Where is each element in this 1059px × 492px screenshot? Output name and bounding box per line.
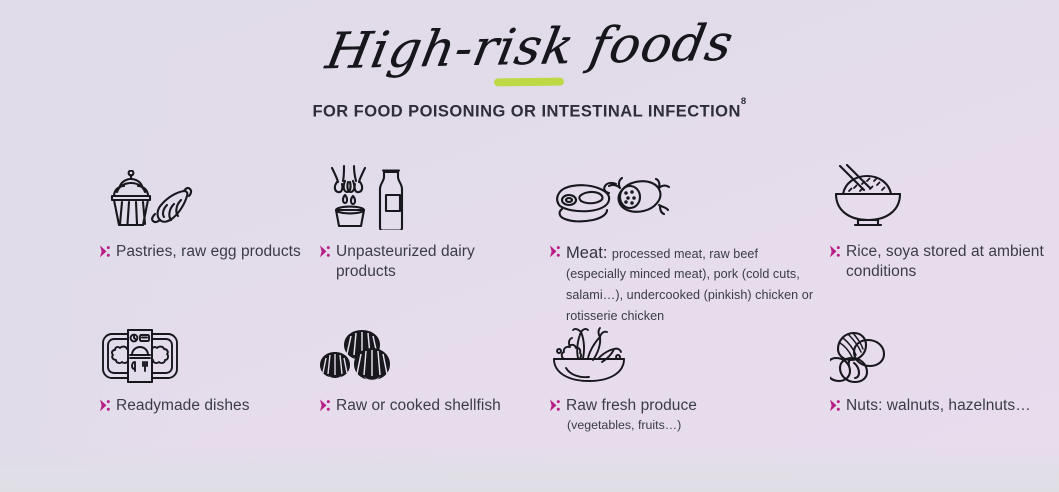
entry: Raw fresh produce <box>550 396 818 417</box>
arrow-bullet-icon <box>320 245 330 262</box>
entry-group: Raw fresh produce (vegetables, fruits…) <box>550 396 818 434</box>
item-label: Meat: <box>566 244 608 262</box>
subtitle-footnote-marker: 8 <box>741 96 747 107</box>
entry: Raw or cooked shellfish <box>320 396 538 417</box>
page-title: High-risk foods <box>312 18 747 77</box>
item-label: Raw fresh produce <box>566 396 697 417</box>
vegetable-bowl-icon <box>550 318 818 384</box>
cow-udder-milk-bottle-icon <box>320 156 538 230</box>
food-item-produce: Raw fresh produce (vegetables, fruits…) <box>550 318 818 434</box>
scallop-shells-icon <box>320 318 538 384</box>
food-item-meat: Meat: processed meat, raw beef (especial… <box>550 156 818 306</box>
cupcake-croissant-icon <box>100 156 308 230</box>
entry: Nuts: walnuts, hazelnuts… <box>830 396 1059 417</box>
arrow-bullet-icon <box>550 245 560 262</box>
entry: Unpasteurized dairy products <box>320 242 538 284</box>
header: High-risk foods FOR FOOD POISONING OR IN… <box>0 0 1059 122</box>
item-label: Raw or cooked shellfish <box>336 396 501 417</box>
item-label: Unpasteurized dairy products <box>336 242 538 284</box>
nuts-icon <box>830 318 1059 384</box>
title-underline-accent <box>494 78 564 87</box>
arrow-bullet-icon <box>100 399 110 416</box>
food-item-nuts: Nuts: walnuts, hazelnuts… <box>830 318 1059 434</box>
entry: Rice, soya stored at ambient conditions <box>830 242 1059 284</box>
food-item-shellfish: Raw or cooked shellfish <box>320 318 538 434</box>
steak-sausage-icon <box>550 156 818 230</box>
background-gradient-bottom <box>0 446 1059 492</box>
title-wrap: High-risk foods <box>318 22 742 72</box>
arrow-bullet-icon <box>830 399 840 416</box>
arrow-bullet-icon <box>320 399 330 416</box>
entry: Readymade dishes <box>100 396 308 417</box>
rice-bowl-chopsticks-icon <box>830 156 1059 230</box>
food-item-pastries: Pastries, raw egg products <box>100 156 308 306</box>
arrow-bullet-icon <box>830 245 840 262</box>
food-item-rice: Rice, soya stored at ambient conditions <box>830 156 1059 306</box>
entry: Pastries, raw egg products <box>100 242 308 263</box>
food-items-grid: Pastries, raw egg products <box>0 156 1059 434</box>
item-label: Pastries, raw egg products <box>116 242 301 263</box>
arrow-bullet-icon <box>550 399 560 416</box>
arrow-bullet-icon <box>100 245 110 262</box>
item-label: Nuts: walnuts, hazelnuts… <box>846 396 1031 417</box>
high-risk-foods-infographic: High-risk foods FOR FOOD POISONING OR IN… <box>0 0 1059 492</box>
item-label: Readymade dishes <box>116 396 250 417</box>
entry: Meat: processed meat, raw beef (especial… <box>550 242 818 328</box>
subtitle-text: FOR FOOD POISONING OR INTESTINAL INFECTI… <box>312 103 740 121</box>
item-label: Rice, soya stored at ambient conditions <box>846 242 1059 284</box>
item-text-block: Meat: processed meat, raw beef (especial… <box>566 242 818 328</box>
food-item-dairy: Unpasteurized dairy products <box>320 156 538 306</box>
item-note: (vegetables, fruits…) <box>567 417 818 433</box>
subtitle: FOR FOOD POISONING OR INTESTINAL INFECTI… <box>0 102 1059 122</box>
food-item-readymade: Readymade dishes <box>100 318 308 434</box>
ready-meal-tray-icon <box>100 318 308 384</box>
